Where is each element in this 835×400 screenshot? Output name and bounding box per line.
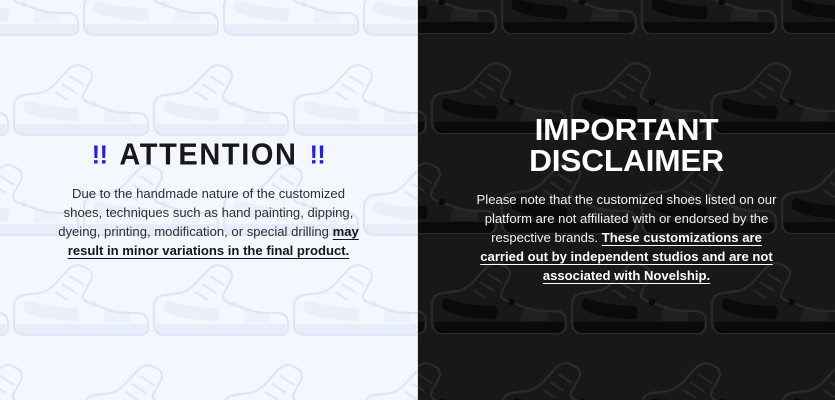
disclaimer-heading: IMPORTANT DISCLAIMER: [428, 115, 825, 175]
attention-content: !!ATTENTION!! Due to the handmade nature…: [0, 140, 417, 259]
disclaimer-heading-line2: DISCLAIMER: [428, 146, 825, 176]
disclaimer-panel: IMPORTANT DISCLAIMER Please note that th…: [417, 0, 835, 400]
disclaimer-content: IMPORTANT DISCLAIMER Please note that th…: [418, 115, 835, 284]
dual-notice-banner: !!ATTENTION!! Due to the handmade nature…: [0, 0, 835, 400]
attention-body-normal: Due to the handmade nature of the custom…: [58, 186, 353, 239]
disclaimer-heading-line1: IMPORTANT: [428, 115, 825, 145]
exclamation-icon-left: !!: [92, 142, 108, 169]
attention-body: Due to the handmade nature of the custom…: [56, 184, 362, 260]
attention-panel: !!ATTENTION!! Due to the handmade nature…: [0, 0, 417, 400]
disclaimer-body: Please note that the customized shoes li…: [468, 190, 786, 285]
attention-title: ATTENTION: [119, 139, 297, 172]
attention-heading: !!ATTENTION!!: [14, 140, 403, 171]
exclamation-icon-right: !!: [310, 142, 326, 169]
